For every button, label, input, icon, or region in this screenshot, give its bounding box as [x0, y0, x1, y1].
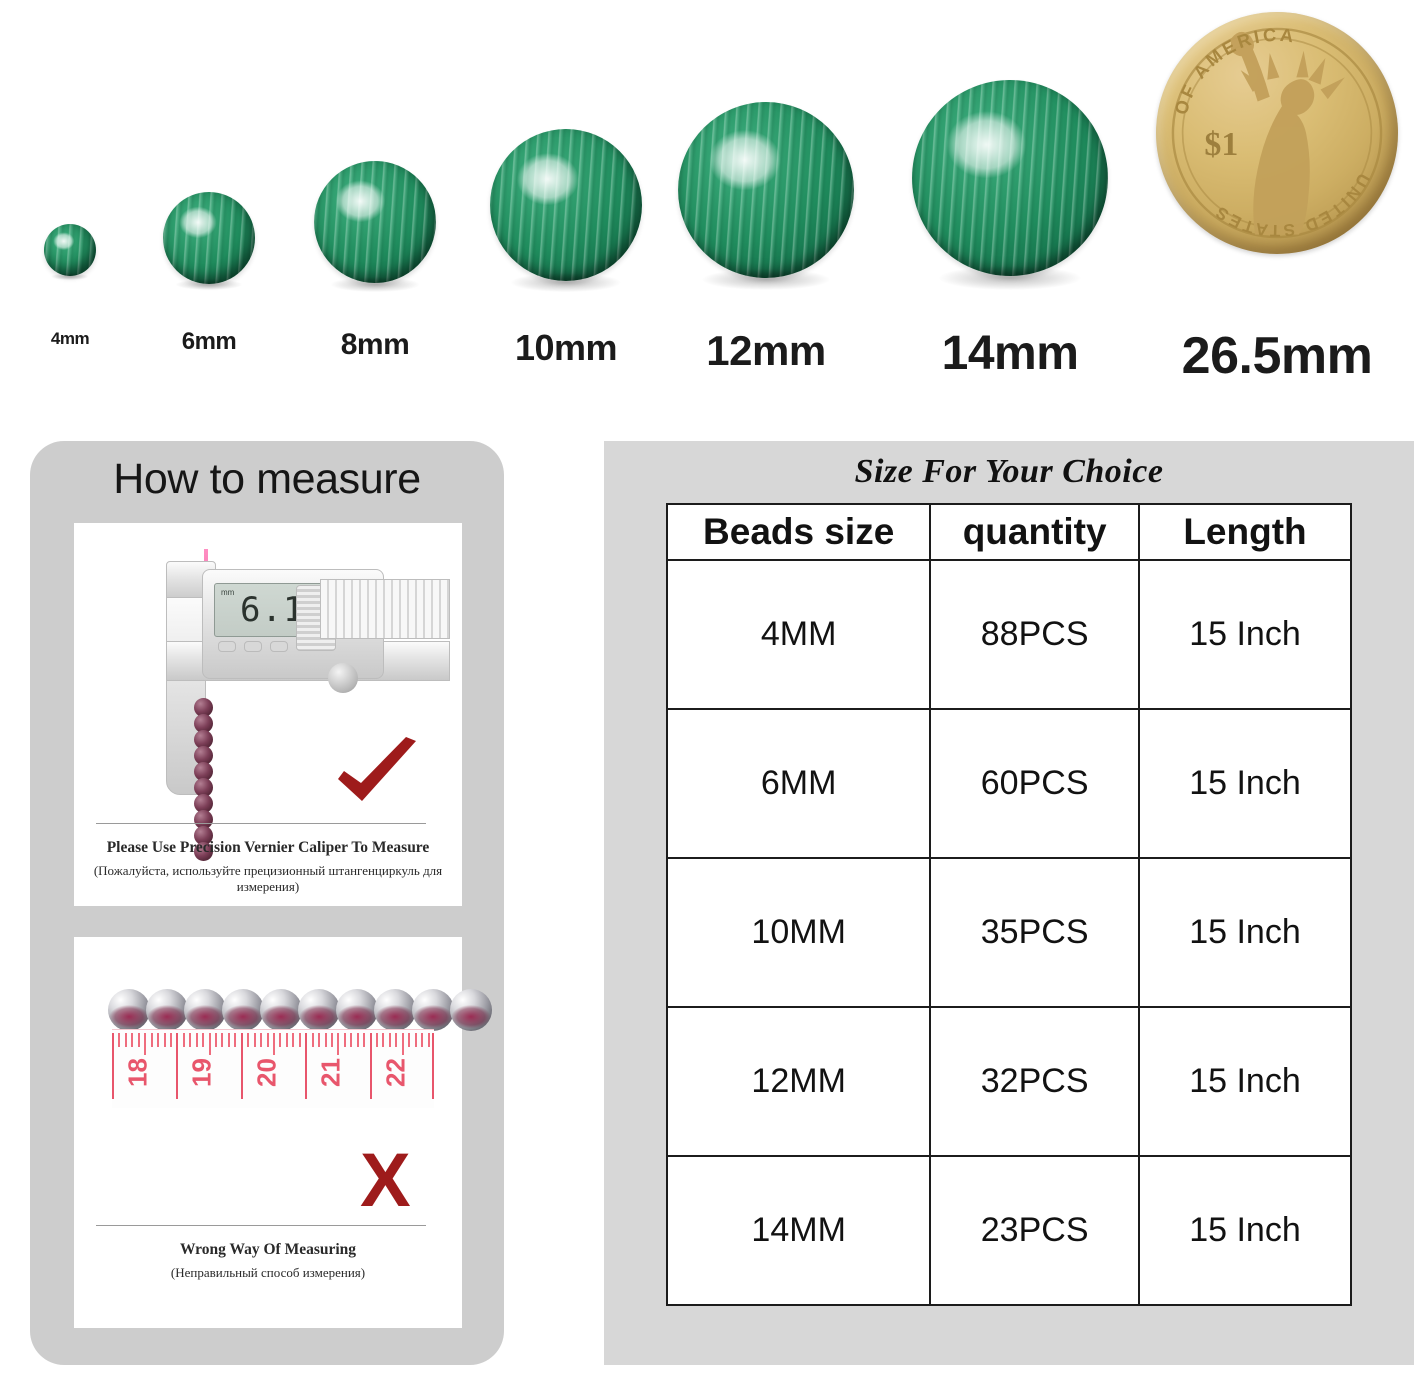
svg-text:OF AMERICA: OF AMERICA	[1171, 25, 1298, 117]
tape-number-label: 19	[187, 1055, 218, 1091]
size-table-panel: Size For Your Choice Beads size quantity…	[604, 441, 1414, 1365]
coin-size-label: 26.5mm	[1182, 330, 1373, 382]
table-row: 10MM35PCS15 Inch	[667, 858, 1351, 1007]
bead-size-label: 14mm	[942, 330, 1079, 378]
bead-sample: 6mm	[144, 192, 274, 284]
check-mark-icon	[332, 737, 424, 813]
tape-minor-tick	[357, 1033, 359, 1047]
bead-size-cell: 10MM	[667, 858, 930, 1007]
tape-minor-tick	[131, 1033, 133, 1047]
bead-size-label: 4mm	[51, 330, 89, 347]
caliper-off-button	[218, 641, 236, 652]
tape-major-tick	[305, 1033, 307, 1099]
caliper-on-button	[244, 641, 262, 652]
tape-minor-tick	[376, 1033, 378, 1047]
tape-minor-tick	[228, 1033, 230, 1047]
bead-length-cell: 15 Inch	[1139, 1007, 1351, 1156]
x-mark-icon: X	[360, 1143, 411, 1219]
tape-number-label: 21	[316, 1055, 347, 1091]
bead-sample: 10mm	[490, 129, 642, 281]
tape-minor-tick	[286, 1033, 288, 1047]
column-header-quantity: quantity	[930, 504, 1139, 560]
tape-minor-tick	[428, 1033, 430, 1047]
measured-bead-strand	[194, 701, 213, 861]
wrong-measuring-photo: 1819202122 X Wrong Way Of Measuring (Неп…	[74, 937, 462, 1328]
tape-minor-tick	[273, 1033, 275, 1055]
malachite-bead-icon	[314, 161, 436, 283]
bead-sample: 12mm	[678, 102, 854, 278]
tape-minor-tick	[151, 1033, 153, 1047]
bead-sample: 14mm	[912, 80, 1108, 276]
caliper-unit-label: mm	[221, 588, 234, 597]
malachite-bead-icon	[912, 80, 1108, 276]
photo-divider	[96, 823, 426, 824]
tape-minor-tick	[234, 1033, 236, 1047]
tape-minor-tick	[144, 1033, 146, 1055]
table-row: 12MM32PCS15 Inch	[667, 1007, 1351, 1156]
tape-minor-tick	[312, 1033, 314, 1047]
malachite-bead-icon	[44, 224, 96, 276]
tape-minor-tick	[382, 1033, 384, 1047]
photo-divider-2	[96, 1225, 426, 1226]
size-table-title: Size For Your Choice	[604, 453, 1414, 491]
tape-minor-tick	[196, 1033, 198, 1047]
tape-minor-tick	[389, 1033, 391, 1047]
column-header-length: Length	[1139, 504, 1351, 560]
bead-quantity-cell: 60PCS	[930, 709, 1139, 858]
size-table: Beads size quantity Length 4MM88PCS15 In…	[666, 503, 1352, 1306]
tape-minor-tick	[299, 1033, 301, 1047]
tape-minor-tick	[267, 1033, 269, 1047]
tape-minor-tick	[325, 1033, 327, 1047]
tape-number-label: 18	[123, 1055, 154, 1091]
tape-minor-tick	[292, 1033, 294, 1047]
svg-text:$1: $1	[1204, 126, 1238, 163]
tape-major-tick	[370, 1033, 372, 1099]
tape-minor-tick	[138, 1033, 140, 1047]
tape-major-tick	[112, 1033, 114, 1099]
tape-major-tick	[176, 1033, 178, 1099]
tape-minor-tick	[260, 1033, 262, 1047]
bead-length-cell: 15 Inch	[1139, 1156, 1351, 1305]
tape-minor-tick	[395, 1033, 397, 1047]
reference-coin: $1OF AMERICAUNITED STATES26.5mm	[1156, 12, 1398, 254]
caliper-zero-button	[270, 641, 288, 652]
table-row: 4MM88PCS15 Inch	[667, 560, 1351, 709]
tape-minor-tick	[202, 1033, 204, 1047]
tape-minor-tick	[318, 1033, 320, 1047]
tape-minor-tick	[344, 1033, 346, 1047]
malachite-bead-icon	[163, 192, 255, 284]
bead-size-label: 6mm	[182, 330, 237, 354]
steel-bead-strand	[112, 989, 492, 1031]
tape-minor-tick	[189, 1033, 191, 1047]
correct-caption-en: Please Use Precision Vernier Caliper To …	[74, 839, 462, 857]
tape-number-label: 22	[380, 1055, 411, 1091]
malachite-bead-icon	[678, 102, 854, 278]
tape-minor-tick	[215, 1033, 217, 1047]
correct-measuring-photo: mm 6.16 Please Use Precision Vernier Cal…	[74, 523, 462, 906]
bead-size-label: 10mm	[515, 330, 617, 366]
bead-size-cell: 4MM	[667, 560, 930, 709]
bead-size-comparison-strip: 4mm6mm8mm10mm12mm14mm$1OF AMERICAUNITED …	[0, 0, 1414, 400]
tape-minor-tick	[363, 1033, 365, 1047]
bead-length-cell: 15 Inch	[1139, 560, 1351, 709]
tape-minor-tick	[157, 1033, 159, 1047]
bead-length-cell: 15 Inch	[1139, 858, 1351, 1007]
tape-minor-tick	[402, 1033, 404, 1055]
bead-quantity-cell: 23PCS	[930, 1156, 1139, 1305]
correct-caption-ru: (Пожалуйста, используйте прецизионный шт…	[74, 863, 462, 895]
how-to-measure-card: How to measure mm 6.16 Pleas	[30, 441, 504, 1365]
table-header-row: Beads size quantity Length	[667, 504, 1351, 560]
bead-size-cell: 6MM	[667, 709, 930, 858]
tape-minor-tick	[421, 1033, 423, 1047]
wrong-caption-en: Wrong Way Of Measuring	[74, 1241, 462, 1259]
bead-quantity-cell: 32PCS	[930, 1007, 1139, 1156]
tape-minor-tick	[125, 1033, 127, 1047]
bead-size-cell: 14MM	[667, 1156, 930, 1305]
tape-major-tick	[241, 1033, 243, 1099]
tape-minor-tick	[408, 1033, 410, 1047]
wrong-caption-ru: (Неправильный способ измерения)	[74, 1265, 462, 1281]
tape-minor-tick	[221, 1033, 223, 1047]
column-header-beads-size: Beads size	[667, 504, 930, 560]
tape-minor-tick	[247, 1033, 249, 1047]
tape-minor-tick	[164, 1033, 166, 1047]
tape-minor-tick	[209, 1033, 211, 1055]
tape-minor-tick	[254, 1033, 256, 1047]
tape-minor-tick	[279, 1033, 281, 1047]
caliper-lock-screw	[328, 663, 358, 693]
bead-sample: 8mm	[310, 161, 440, 283]
tape-minor-tick	[350, 1033, 352, 1047]
bead-size-cell: 12MM	[667, 1007, 930, 1156]
tape-minor-tick	[170, 1033, 172, 1047]
caliper-scale-rail	[320, 579, 450, 639]
tape-minor-tick	[415, 1033, 417, 1047]
table-row: 14MM23PCS15 Inch	[667, 1156, 1351, 1305]
tape-minor-tick	[337, 1033, 339, 1055]
tape-minor-tick	[183, 1033, 185, 1047]
tape-graduations: 1819202122	[112, 1029, 434, 1107]
bead-size-label: 12mm	[706, 330, 825, 372]
bead-quantity-cell: 88PCS	[930, 560, 1139, 709]
tape-minor-tick	[331, 1033, 333, 1047]
bead-length-cell: 15 Inch	[1139, 709, 1351, 858]
bead-sample: 4mm	[5, 224, 135, 276]
malachite-bead-icon	[490, 129, 642, 281]
table-row: 6MM60PCS15 Inch	[667, 709, 1351, 858]
tape-minor-tick	[118, 1033, 120, 1047]
how-to-measure-title: How to measure	[30, 455, 504, 504]
bead-quantity-cell: 35PCS	[930, 858, 1139, 1007]
tape-major-tick	[432, 1033, 434, 1099]
dollar-coin-icon: $1OF AMERICAUNITED STATES	[1156, 12, 1398, 254]
bead-size-label: 8mm	[341, 330, 410, 360]
tape-number-label: 20	[251, 1055, 282, 1091]
